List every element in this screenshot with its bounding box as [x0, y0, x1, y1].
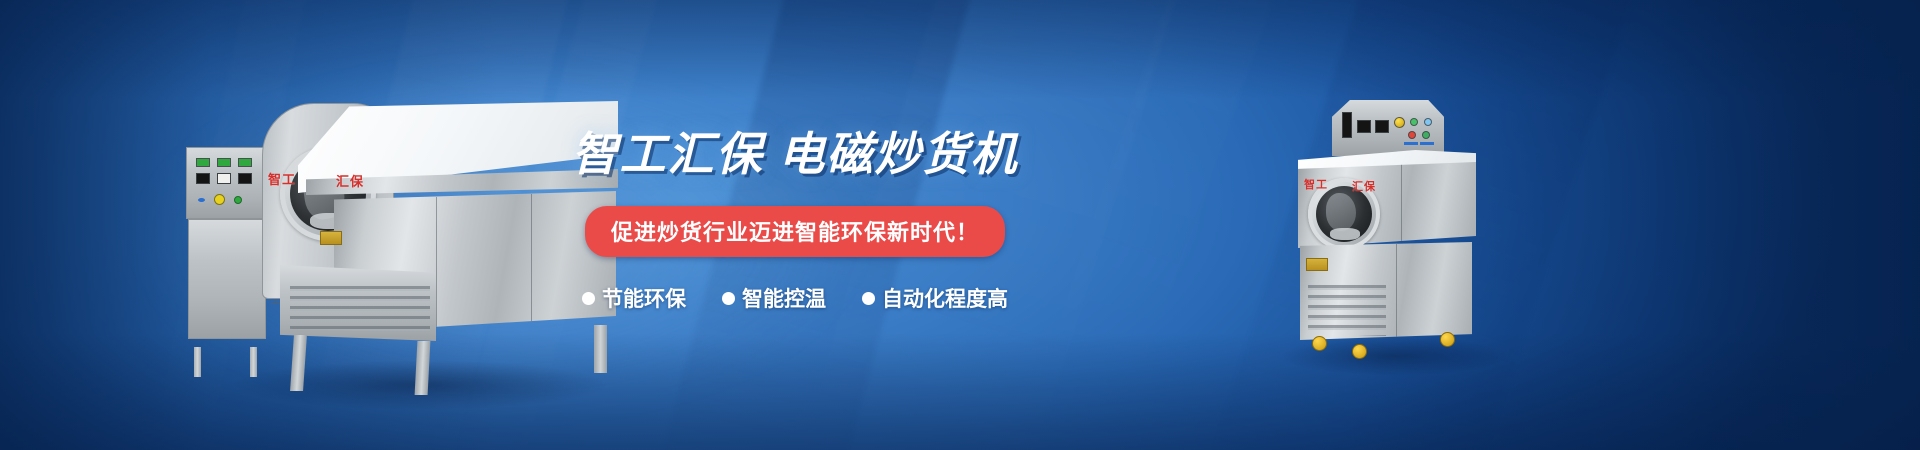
button-green — [1422, 131, 1430, 139]
drum-blade — [1326, 193, 1356, 231]
machine-left-vent-grill — [290, 281, 430, 333]
feature-item-energy-saving: 节能环保 — [582, 283, 686, 313]
digital-display — [1375, 120, 1389, 133]
caster-wheel — [1352, 344, 1367, 359]
feature-label: 智能控温 — [742, 283, 826, 313]
emergency-stop-knob — [1394, 117, 1405, 128]
panel-label-tag — [1420, 142, 1434, 145]
bullet-dot-icon — [862, 292, 875, 305]
knob-row — [198, 194, 242, 205]
digital-display-row — [196, 173, 252, 184]
indicator-green — [1410, 118, 1418, 126]
panel-label-tag — [198, 198, 205, 202]
machine-left-leg — [290, 335, 307, 391]
machine-left-leg — [415, 341, 431, 395]
button-red — [1408, 131, 1416, 139]
machine-right-control-panel — [1332, 100, 1444, 156]
indicator-light-green — [238, 158, 252, 167]
product-image-machine-right: 智工 汇保 — [1290, 100, 1500, 360]
digital-display — [1357, 120, 1371, 133]
drum-blade — [1330, 228, 1360, 240]
panel-label-tag — [1404, 142, 1418, 145]
banner-feature-list: 节能环保 智能控温 自动化程度高 — [560, 283, 1030, 313]
indicator-light-green — [196, 158, 210, 167]
promo-banner: 许昌智工 智工 汇保 — [0, 0, 1920, 450]
feature-label: 自动化程度高 — [882, 283, 1008, 313]
machine-left-brand-right: 汇保 — [336, 171, 364, 190]
indicator-light-green — [217, 158, 231, 167]
machine-left-brass-nameplate — [320, 231, 342, 245]
start-button-green — [234, 196, 242, 204]
machine-right-brass-nameplate — [1306, 258, 1328, 271]
feature-label: 节能环保 — [602, 283, 686, 313]
machine-left-control-body — [188, 219, 266, 339]
digital-display — [217, 173, 231, 184]
indicator-blue — [1424, 118, 1432, 126]
banner-tagline: 促进炒货行业迈进智能环保新时代！ — [585, 206, 1005, 257]
feature-item-smart-temperature: 智能控温 — [722, 283, 826, 313]
banner-text-block: 智工汇保 电磁炒货机 促进炒货行业迈进智能环保新时代！ 节能环保 智能控温 自动… — [560, 118, 1030, 313]
machine-left-control-head — [186, 147, 272, 219]
banner-tagline-wrapper: 促进炒货行业迈进智能环保新时代！ — [560, 206, 1030, 257]
digital-display — [196, 173, 210, 184]
panel-switch — [1342, 112, 1352, 138]
machine-left-brand-left: 智工 — [268, 169, 296, 188]
indicator-light-row — [196, 158, 252, 167]
machine-left-leg — [594, 325, 607, 373]
feature-item-automation: 自动化程度高 — [862, 283, 1008, 313]
machine-right-vent-grill — [1308, 280, 1386, 336]
bullet-dot-icon — [582, 292, 595, 305]
emergency-stop-knob — [214, 194, 225, 205]
machine-right-brand-right: 汇保 — [1352, 178, 1376, 194]
machine-left-control-tower — [186, 147, 272, 347]
banner-headline: 智工汇保 电磁炒货机 — [560, 118, 1030, 184]
caster-wheel — [1312, 336, 1327, 351]
machine-right-brand-left: 智工 — [1304, 176, 1328, 192]
bullet-dot-icon — [722, 292, 735, 305]
product-image-machine-left: 许昌智工 智工 汇保 — [186, 103, 616, 393]
machine-right-drum-opening — [1316, 186, 1372, 242]
caster-wheel — [1440, 332, 1455, 347]
digital-display — [238, 173, 252, 184]
